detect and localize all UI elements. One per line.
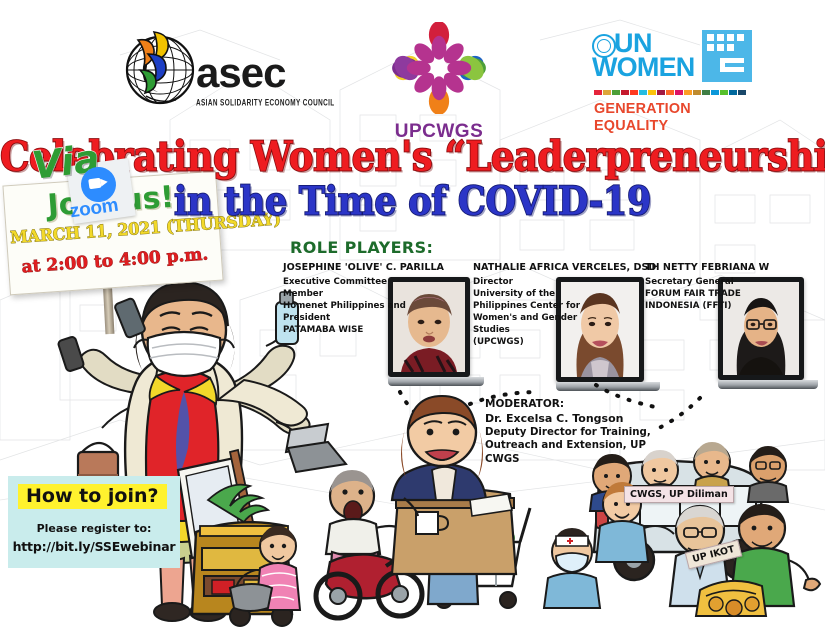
moderator-caricature [0,0,825,638]
jeepney-sign-cwgs: CWGS, UP Diliman [624,486,734,503]
webinar-poster: asec ASIAN SOLIDARITY ECONOMY COUNCIL [0,0,825,638]
